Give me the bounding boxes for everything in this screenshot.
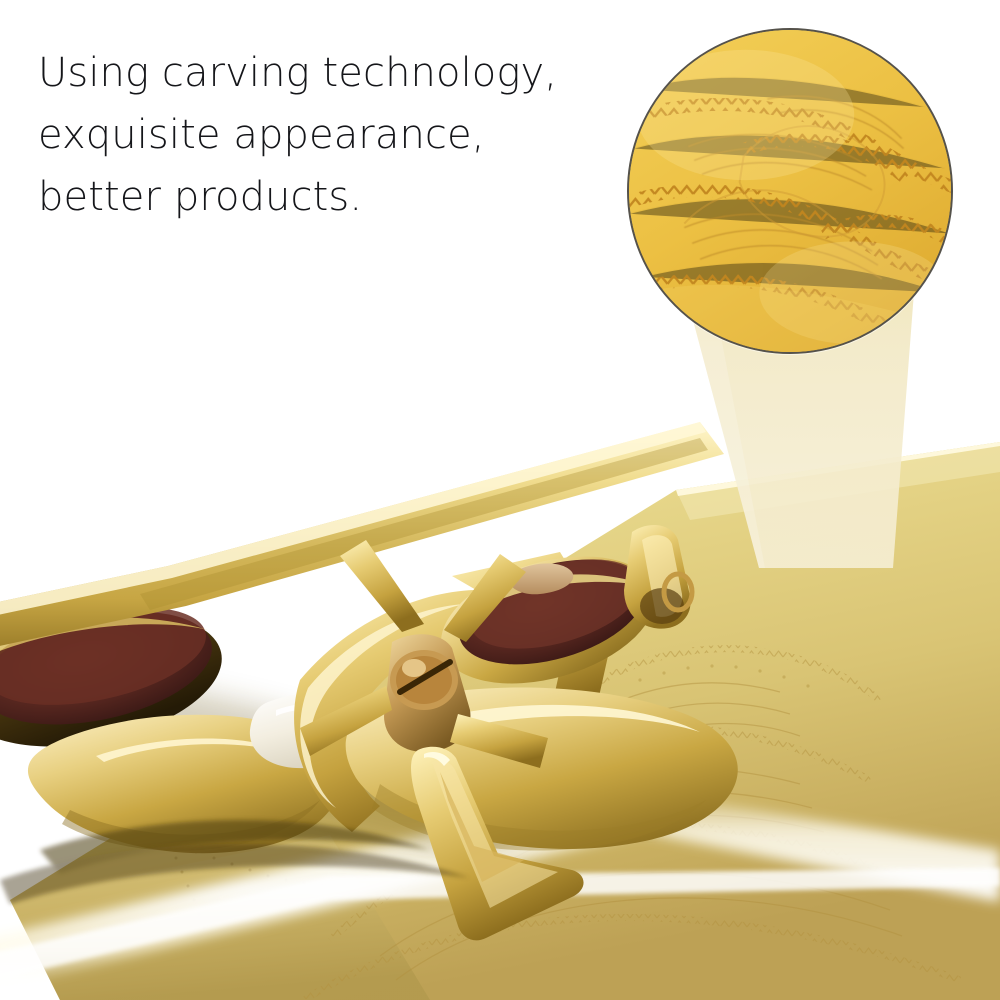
magnified-detail-circle bbox=[627, 28, 953, 354]
caption-line-1: Using carving technology, bbox=[38, 42, 598, 104]
saxophone-bell-with-keywork bbox=[0, 380, 1000, 1000]
caption-line-3: better products. bbox=[38, 166, 598, 228]
marketing-caption: Using carving technology, exquisite appe… bbox=[38, 42, 598, 228]
product-feature-image: Using carving technology, exquisite appe… bbox=[0, 0, 1000, 1000]
caption-line-2: exquisite appearance, bbox=[38, 104, 598, 166]
